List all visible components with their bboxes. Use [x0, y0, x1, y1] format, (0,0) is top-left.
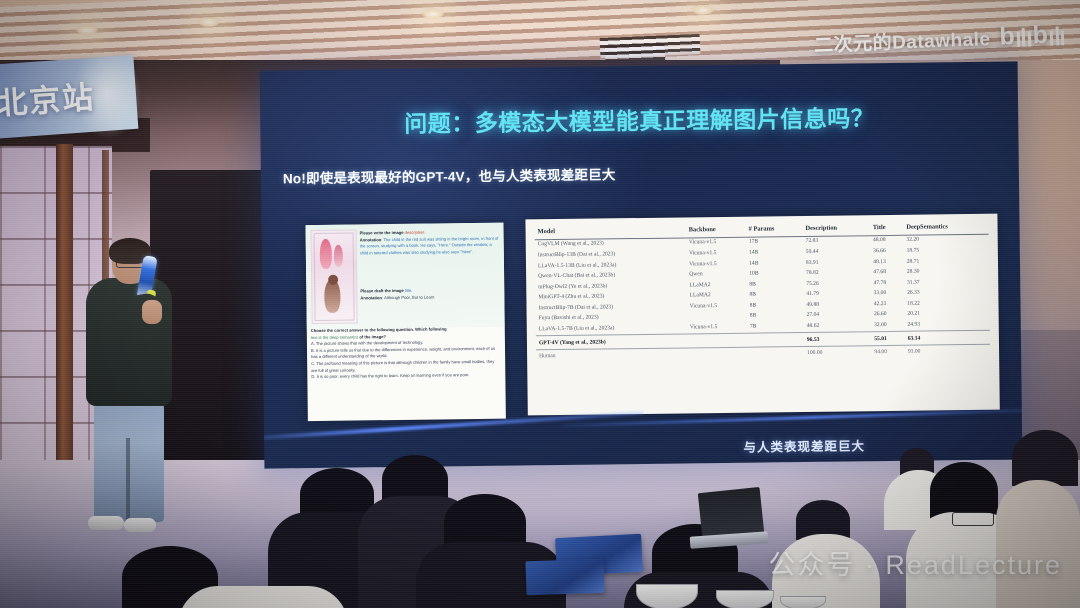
speaker-shoe-right — [124, 518, 156, 532]
cell-params: 10B — [746, 269, 803, 280]
prompt2-label: Please draft the image — [360, 288, 404, 294]
banner-text: 北京站 — [0, 72, 96, 124]
event-banner: 北京站 — [0, 55, 138, 139]
bowl-icon — [780, 596, 826, 608]
wooden-pillar — [56, 144, 73, 504]
cell-title: 36.66 — [870, 246, 904, 257]
cell-params: 8B — [746, 279, 803, 290]
cell-description: 100.00 — [804, 346, 872, 360]
audience-head — [1012, 430, 1078, 486]
col-backbone: Backbone — [686, 224, 746, 238]
question-option: D. It is so poor, every child has the ri… — [311, 372, 501, 381]
cell-title: 26.60 — [871, 310, 905, 321]
bilibili-b-glyph: b — [1032, 25, 1049, 46]
cell-params — [747, 333, 804, 348]
cell-title: 48.13 — [870, 257, 904, 268]
cell-backbone: Vicuna-v1.5 — [687, 301, 747, 312]
example-prompt-block-1: Please write the image description. Anno… — [360, 229, 500, 257]
cell-title: 55.01 — [871, 331, 905, 346]
cell-backbone — [687, 333, 747, 348]
cell-title: 42.23 — [871, 299, 905, 310]
cell-params: 17B — [746, 237, 803, 249]
downlight-icon — [690, 4, 716, 16]
bowl-icon — [716, 590, 774, 608]
cell-description: 72.83 — [803, 236, 871, 248]
cell-params: 8B — [746, 290, 803, 301]
bilibili-b-glyph: b — [999, 26, 1016, 47]
cell-title: 94.00 — [871, 346, 905, 359]
prompt2-keyword: title — [405, 288, 411, 293]
illustration-child-red — [320, 239, 332, 269]
results-table: Model Backbone # Params Description Titl… — [535, 221, 991, 363]
cell-title: 32.00 — [871, 320, 905, 331]
example-prompt-block-2: Please draft the image title. Annotation… — [360, 287, 500, 302]
cell-title: 47.68 — [870, 268, 904, 279]
speaker-shoe-left — [88, 516, 124, 530]
cell-title: 48.08 — [870, 235, 904, 246]
cell-deep: 93.00 — [905, 344, 990, 358]
illustration-child-pink — [334, 245, 343, 267]
annotation1-label: Annotation — [360, 237, 382, 242]
speaker-hand — [142, 300, 162, 324]
cell-description: 96.53 — [804, 332, 872, 347]
cell-backbone: Vicuna-v1.5 — [687, 322, 747, 334]
col-description: Description — [802, 222, 870, 236]
speaker-legs-split — [126, 438, 130, 522]
cell-title: 47.78 — [870, 278, 904, 289]
slide-example-card: Please write the image description. Anno… — [305, 223, 505, 421]
cell-model: Human — [536, 348, 687, 363]
glasses-icon — [952, 512, 994, 526]
prompt1-keyword: description — [405, 230, 425, 235]
cell-backbone: LLaMA2 — [686, 280, 746, 291]
col-title: Title — [870, 222, 904, 236]
bowl-icon — [636, 584, 698, 608]
results-table-body: CogVLM (Wang et al., 2023)Vicuna-v1.517B… — [535, 234, 990, 362]
downlight-icon — [74, 24, 100, 36]
audience-body-white — [178, 586, 348, 608]
conference-photo-scene: 北京站 问题：多模态大模型能真正理解图片信息吗？ No!即使是表现最好的GPT-… — [0, 0, 1080, 608]
downlight-icon — [420, 8, 446, 20]
cell-deep: 63.14 — [905, 330, 990, 345]
example-question-block: Choose the correct answer to the followi… — [311, 326, 502, 381]
col-deepsemantics: DeepSemantics — [903, 221, 988, 236]
cell-backbone — [687, 347, 747, 360]
cell-title: 33.00 — [871, 289, 905, 300]
downlight-icon — [196, 16, 222, 28]
question-lead: Choose the correct answer to the followi… — [311, 326, 447, 333]
cell-backbone: Vicuna-v1.5 — [686, 259, 746, 270]
presentation-screen: 问题：多模态大模型能真正理解图片信息吗？ No!即使是表现最好的GPT-4V，也… — [260, 61, 1023, 468]
bilibili-bars-glyph — [1050, 26, 1064, 45]
cell-params: 8B — [747, 311, 804, 322]
slide-results-table-card: Model Backbone # Params Description Titl… — [525, 214, 999, 416]
cell-backbone: Vicuna-v1.5 — [686, 248, 746, 259]
example-image-thumbnail — [311, 229, 358, 324]
question-keyword: text is the deep semantics — [311, 334, 358, 340]
question-tail: of the image? — [359, 334, 386, 339]
speaker-presenter — [78, 242, 188, 542]
annotation2-text: Although Poor, But to Learn — [384, 294, 434, 300]
cell-params: 7B — [747, 321, 804, 333]
cell-backbone: Vicuna-v1.5 — [686, 237, 746, 249]
cell-params: 14B — [746, 248, 803, 259]
illustration-child-head — [328, 275, 338, 285]
watermark-account-text: 公众号 · ReadLecture — [768, 543, 1062, 582]
annotation2-label: Annotation — [360, 295, 382, 300]
cell-backbone: Qwen — [686, 269, 746, 280]
watermark-bottom-right: 公众号 · ReadLecture — [768, 543, 1062, 582]
bilibili-logo-icon: b b — [999, 24, 1064, 47]
cell-description: 48.62 — [804, 321, 872, 333]
cell-params: 14B — [746, 258, 803, 269]
cell-backbone: LLaMA2 — [686, 291, 746, 302]
bilibili-bars-glyph — [1017, 27, 1031, 46]
col-params: # Params — [746, 223, 803, 237]
cell-params: 8B — [747, 300, 804, 311]
cell-description: 27.04 — [804, 310, 871, 321]
cell-backbone — [687, 312, 747, 323]
cell-params — [747, 347, 804, 360]
product-box — [525, 559, 604, 596]
prompt1-label: Please write the image — [360, 230, 404, 236]
